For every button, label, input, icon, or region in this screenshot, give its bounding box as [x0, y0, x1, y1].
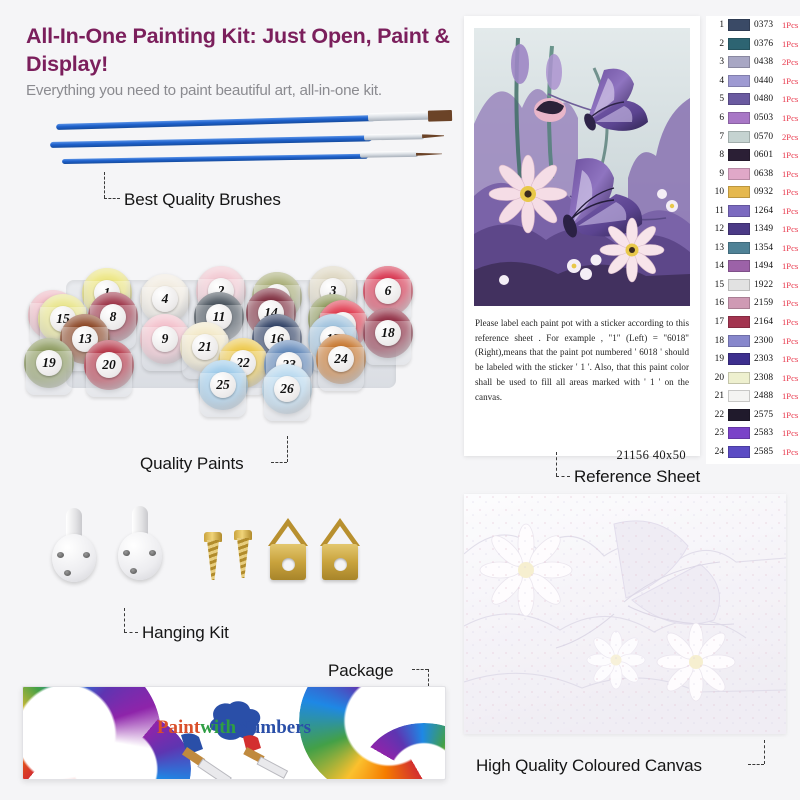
brush-round [50, 130, 442, 138]
canvas-callout-line-horizontal [748, 764, 764, 765]
color-index: 22 [708, 410, 724, 420]
hook-pin [64, 570, 71, 576]
color-swatch [728, 112, 750, 124]
color-index: 20 [708, 373, 724, 383]
color-quantity: 1Pcs [782, 373, 798, 383]
color-swatch [728, 390, 750, 402]
color-index: 23 [708, 428, 724, 438]
callout-paints: Quality Paints [140, 454, 243, 474]
brush-tip [428, 110, 452, 122]
color-quantity: 1Pcs [782, 391, 798, 401]
color-swatch [728, 205, 750, 217]
paint-pot-number: 19 [36, 350, 62, 376]
color-row: 2425851Pcs [706, 443, 800, 462]
color-swatch [728, 131, 750, 143]
color-code: 2303 [754, 354, 778, 364]
color-row: 1414941Pcs [706, 257, 800, 276]
paint-pot-19: 19 [24, 338, 74, 388]
brush-ferrule [360, 151, 418, 158]
hanging-kit-group [52, 500, 352, 600]
paint-pot-26: 26 [262, 364, 312, 414]
color-swatch [728, 186, 750, 198]
color-index: 14 [708, 261, 724, 271]
paint-pot-number: 24 [328, 346, 354, 372]
paints-callout-line-vertical [287, 436, 288, 462]
hanger-hole [282, 558, 295, 571]
screw [234, 530, 252, 586]
reference-sheet-panel: Please label each paint pot with a stick… [464, 16, 700, 456]
color-code: 0601 [754, 150, 778, 160]
color-code: 2300 [754, 336, 778, 346]
callout-package: Package [328, 661, 393, 681]
color-swatch [728, 316, 750, 328]
color-code: 1494 [754, 261, 778, 271]
screw [204, 532, 222, 588]
color-swatch [728, 260, 750, 272]
color-row: 906381Pcs [706, 164, 800, 183]
brush-ferrule [368, 112, 430, 122]
color-index: 19 [708, 354, 724, 364]
color-code: 1264 [754, 206, 778, 216]
color-code: 0480 [754, 94, 778, 104]
color-quantity: 1Pcs [782, 317, 798, 327]
color-index: 4 [708, 76, 724, 86]
color-row: 1621591Pcs [706, 294, 800, 313]
infographic-page: All-In-One Painting Kit: Just Open, Pain… [0, 0, 800, 800]
color-quantity: 1Pcs [782, 20, 798, 30]
color-quantity: 1Pcs [782, 94, 798, 104]
color-quantity: 1Pcs [782, 336, 798, 346]
color-index: 18 [708, 336, 724, 346]
color-index: 21 [708, 391, 724, 401]
callout-hanging-kit: Hanging Kit [142, 623, 229, 643]
color-row: 1721641Pcs [706, 313, 800, 332]
color-quantity: 1Pcs [782, 261, 798, 271]
color-code: 2585 [754, 447, 778, 457]
color-index: 9 [708, 169, 724, 179]
color-index: 3 [708, 57, 724, 67]
color-quantity: 1Pcs [782, 206, 798, 216]
color-swatch [728, 19, 750, 31]
color-row: 2325831Pcs [706, 424, 800, 443]
color-swatch [728, 223, 750, 235]
reference-product-code: 21156 40x50 [464, 448, 686, 463]
screw-shaft [237, 538, 249, 578]
color-quantity: 1Pcs [782, 298, 798, 308]
hook-pin [130, 568, 137, 574]
package-box: PaintwithNumbers [22, 686, 446, 780]
paint-pot-number: 9 [152, 326, 178, 352]
color-code: 0932 [754, 187, 778, 197]
color-quantity: 2Pcs [782, 57, 798, 67]
paint-pot-24: 24 [316, 334, 366, 384]
hook-disc [118, 532, 162, 580]
brush-liner [62, 149, 442, 156]
paint-pot-number: 21 [192, 334, 218, 360]
color-swatch [728, 372, 750, 384]
color-swatch [728, 409, 750, 421]
color-row: 1823001Pcs [706, 331, 800, 350]
color-quantity: 1Pcs [782, 150, 798, 160]
color-quantity: 1Pcs [782, 39, 798, 49]
color-swatch [728, 56, 750, 68]
color-code: 2575 [754, 410, 778, 420]
reference-artwork [474, 28, 690, 306]
color-row: 1519221Pcs [706, 276, 800, 295]
callout-reference-sheet: Reference Sheet [574, 467, 700, 487]
brushes-callout-line-horizontal [104, 198, 120, 199]
color-swatch [728, 335, 750, 347]
paint-pot-25: 25 [198, 360, 248, 410]
color-swatch [728, 149, 750, 161]
color-code: 0503 [754, 113, 778, 123]
color-swatch [728, 168, 750, 180]
brush-handle [50, 135, 372, 148]
brush-tip [416, 152, 442, 155]
screw-shaft [207, 540, 219, 580]
color-quantity: 1Pcs [782, 447, 798, 457]
color-code: 0570 [754, 132, 778, 142]
callout-canvas: High Quality Coloured Canvas [476, 756, 702, 776]
page-title: All-In-One Painting Kit: Just Open, Pain… [26, 22, 456, 79]
color-index: 5 [708, 94, 724, 104]
color-code: 1354 [754, 243, 778, 253]
color-index: 13 [708, 243, 724, 253]
hook-pin [57, 552, 64, 558]
color-quantity: 1Pcs [782, 280, 798, 290]
color-index: 7 [708, 132, 724, 142]
color-quantity: 1Pcs [782, 243, 798, 253]
hook-pin [123, 550, 130, 556]
paint-pot-number: 25 [210, 372, 236, 398]
color-index: 12 [708, 224, 724, 234]
color-index: 1 [708, 20, 724, 30]
color-index: 6 [708, 113, 724, 123]
color-row: 404401Pcs [706, 72, 800, 91]
color-row: 2023081Pcs [706, 368, 800, 387]
color-swatch [728, 279, 750, 291]
color-swatch [728, 297, 750, 309]
color-index: 24 [708, 447, 724, 457]
color-code: 0373 [754, 20, 778, 30]
reference-callout-line-vertical [556, 452, 557, 476]
color-code: 2488 [754, 391, 778, 401]
color-quantity: 1Pcs [782, 224, 798, 234]
package-callout-line-horizontal [412, 669, 428, 670]
wall-hook [52, 508, 96, 582]
color-row: 304382Pcs [706, 53, 800, 72]
brush-flat [56, 109, 446, 120]
hook-pin [149, 550, 156, 556]
reference-instructions: Please label each paint pot with a stick… [475, 316, 689, 404]
hook-pin [83, 552, 90, 558]
color-index: 16 [708, 298, 724, 308]
hanging-callout-line-vertical [124, 608, 125, 632]
color-code: 2583 [754, 428, 778, 438]
paint-pot-number: 26 [274, 376, 300, 402]
color-index: 11 [708, 206, 724, 216]
triangle-hanger [264, 518, 312, 582]
color-row: 103731Pcs [706, 16, 800, 35]
color-code: 2308 [754, 373, 778, 383]
color-code: 2164 [754, 317, 778, 327]
color-row: 1213491Pcs [706, 220, 800, 239]
page-subtitle: Everything you need to paint beautiful a… [26, 82, 466, 99]
color-swatch [728, 242, 750, 254]
paint-pots-group: 1234567891011121314151617181920212223242… [18, 252, 438, 432]
triangle-hanger [316, 518, 364, 582]
hanging-callout-line-horizontal [124, 632, 138, 633]
color-quantity: 2Pcs [782, 132, 798, 142]
color-swatch [728, 427, 750, 439]
brushes-group [14, 112, 444, 174]
color-code: 1922 [754, 280, 778, 290]
brush-tip [422, 134, 444, 138]
hook-disc [52, 534, 96, 582]
color-code: 0438 [754, 57, 778, 67]
color-row: 504801Pcs [706, 90, 800, 109]
paint-pot-number: 6 [375, 278, 401, 304]
color-row: 203761Pcs [706, 35, 800, 54]
color-swatch [728, 75, 750, 87]
reference-callout-line-horizontal [556, 476, 570, 477]
color-swatch [728, 353, 750, 365]
color-quantity: 1Pcs [782, 428, 798, 438]
color-quantity: 1Pcs [782, 76, 798, 86]
paint-pot-18: 18 [363, 308, 413, 358]
color-swatch [728, 93, 750, 105]
color-code: 0440 [754, 76, 778, 86]
color-row: 1313541Pcs [706, 239, 800, 258]
color-index: 17 [708, 317, 724, 327]
callout-brushes: Best Quality Brushes [124, 190, 281, 210]
color-swatch [728, 446, 750, 458]
color-quantity: 1Pcs [782, 169, 798, 179]
color-code: 1349 [754, 224, 778, 234]
color-row: 605031Pcs [706, 109, 800, 128]
hanger-hole [334, 558, 347, 571]
paint-pot-number: 4 [152, 286, 178, 312]
canvas-callout-line-vertical [764, 740, 765, 764]
color-index: 10 [708, 187, 724, 197]
color-quantity: 1Pcs [782, 187, 798, 197]
paint-pot-20: 20 [84, 340, 134, 390]
brush-handle [56, 115, 376, 130]
canvas-photo [464, 494, 786, 734]
color-index: 8 [708, 150, 724, 160]
color-code: 0638 [754, 169, 778, 179]
color-index: 2 [708, 39, 724, 49]
package-brush-art [173, 731, 293, 779]
color-row: 1923031Pcs [706, 350, 800, 369]
brush-handle [62, 154, 368, 164]
paint-pot-number: 20 [96, 352, 122, 378]
color-rows-host: 103731Pcs203761Pcs304382Pcs404401Pcs5048… [706, 16, 800, 461]
brushes-callout-line-vertical [104, 172, 105, 198]
color-code: 0376 [754, 39, 778, 49]
color-index: 15 [708, 280, 724, 290]
color-quantity: 1Pcs [782, 354, 798, 364]
paints-callout-line-horizontal [271, 462, 287, 463]
color-row: 806011Pcs [706, 146, 800, 165]
color-row: 705702Pcs [706, 127, 800, 146]
wall-hook [118, 506, 162, 580]
color-quantity: 1Pcs [782, 410, 798, 420]
color-swatch [728, 38, 750, 50]
color-code: 2159 [754, 298, 778, 308]
color-reference-list: 103731Pcs203761Pcs304382Pcs404401Pcs5048… [706, 16, 800, 464]
color-row: 2124881Pcs [706, 387, 800, 406]
color-row: 1112641Pcs [706, 201, 800, 220]
color-row: 1009321Pcs [706, 183, 800, 202]
brush-ferrule [364, 133, 424, 140]
color-row: 2225751Pcs [706, 405, 800, 424]
color-quantity: 1Pcs [782, 113, 798, 123]
paint-pot-number: 18 [375, 320, 401, 346]
